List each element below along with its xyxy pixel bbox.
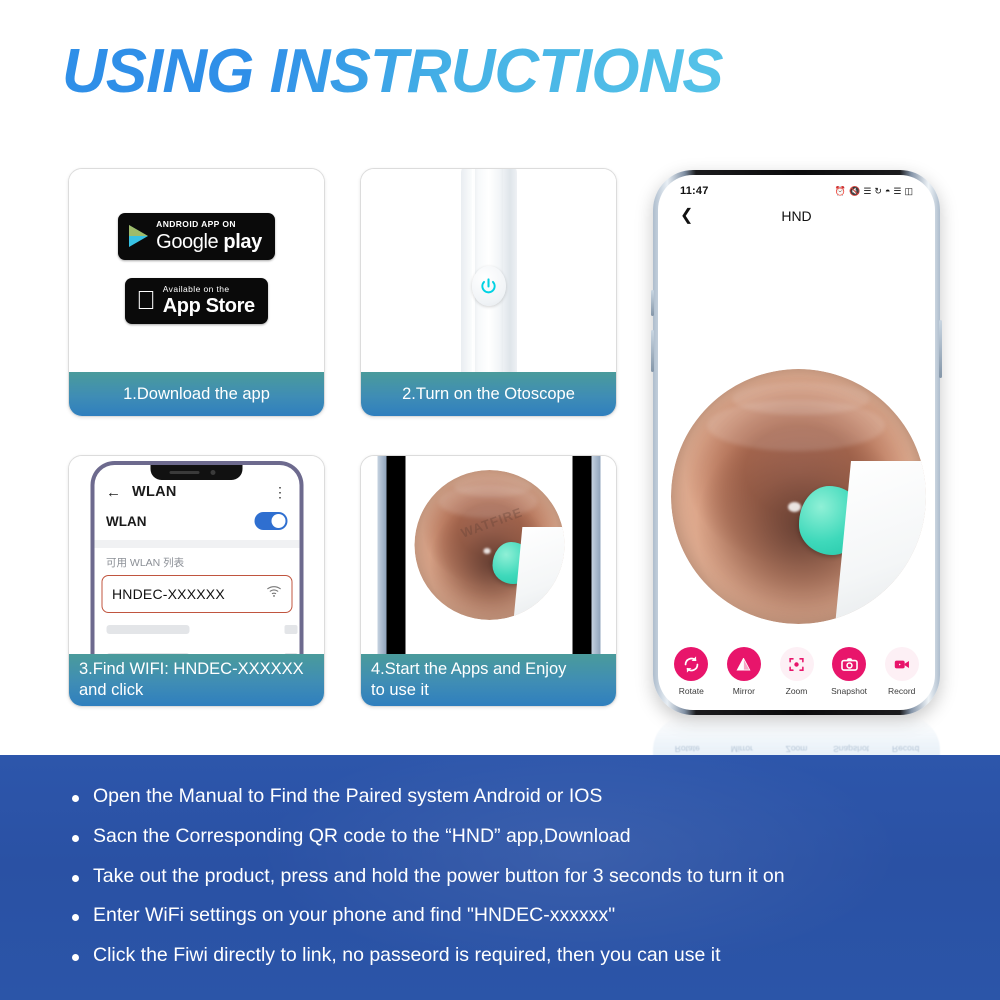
app-phone-mockup: 11:47 ⏰ 🔇 ☰ ↻ ◓ ☰ ◫ ❮ HND [653, 170, 940, 715]
step-1-caption-text: 1.Download the app [123, 384, 270, 405]
note-item: Take out the product, press and hold the… [72, 865, 1000, 889]
note-text: Take out the product, press and hold the… [93, 865, 785, 889]
google-play-badge-big: Google [156, 231, 223, 253]
zoom-button[interactable] [780, 647, 814, 681]
reflection-label-snapshot: Snapshot [829, 744, 874, 754]
step-card-start-apps: WATFIRE 4.Start the Apps and Enjoy to us… [360, 455, 617, 707]
app-store-badge-bold: Store [206, 295, 255, 317]
google-play-badge-bold: play [223, 231, 261, 253]
battery-icon: ◫ [904, 187, 913, 196]
app-store-badge-small: Available on the [163, 285, 255, 294]
step-3-caption-line1: 3.Find WIFI: HNDEC-XXXXXX [79, 659, 304, 680]
note-item: Click the Fiwi directly to link, no pass… [72, 944, 1000, 968]
note-item: Sacn the Corresponding QR code to the “H… [72, 825, 1000, 849]
bullet-icon [72, 835, 79, 842]
store-badges: ANDROID APP ON Google play  Available o… [69, 213, 324, 324]
alarm-icon: ⏰ [835, 187, 846, 196]
step-4-caption-line2: to use it [371, 680, 429, 701]
app-store-badge[interactable]:  Available on the App Store [125, 278, 267, 325]
rotate-label: Rotate [679, 686, 704, 696]
google-play-icon [129, 225, 149, 247]
step-2-body: 2.Turn on the Otoscope [361, 169, 616, 416]
power-button[interactable] [472, 266, 506, 306]
step-4-body: WATFIRE 4.Start the Apps and Enjoy to us… [361, 456, 616, 706]
step-3-body: ← WLAN ⋮ WLAN 可用 WLAN 列表 HNDEC-XXXXXX [69, 456, 324, 706]
wifi-icon [266, 585, 281, 603]
step-1-caption: 1.Download the app [69, 372, 324, 416]
toolbar-item-rotate[interactable]: Rotate [670, 647, 713, 696]
back-arrow-icon[interactable]: ← [106, 485, 121, 500]
status-bar-icons: ⏰ 🔇 ☰ ↻ ◓ ☰ ◫ [835, 187, 913, 196]
bullet-icon [72, 875, 79, 882]
video-icon [893, 656, 910, 673]
record-label: Record [888, 686, 915, 696]
step-4-caption: 4.Start the Apps and Enjoy to use it [361, 654, 616, 706]
step-card-download-app: ANDROID APP ON Google play  Available o… [68, 168, 325, 417]
zoom-label: Zoom [786, 686, 808, 696]
note-text: Click the Fiwi directly to link, no pass… [93, 944, 721, 968]
mirror-button[interactable] [727, 647, 761, 681]
wifi-icon: ◓ [885, 187, 890, 196]
note-text: Sacn the Corresponding QR code to the “H… [93, 825, 631, 849]
apple-icon:  [136, 289, 156, 311]
bluetooth-icon: ☰ [863, 187, 871, 196]
page-title: USING INSTRUCTIONS [62, 36, 723, 107]
mute-icon: 🔇 [849, 187, 860, 196]
snapshot-label: Snapshot [831, 686, 867, 696]
bullet-icon [72, 795, 79, 802]
google-play-badge[interactable]: ANDROID APP ON Google play [118, 213, 275, 260]
app-bar: ❮ HND [658, 197, 935, 229]
app-screen: 11:47 ⏰ 🔇 ☰ ↻ ◓ ☰ ◫ ❮ HND [658, 175, 935, 710]
wlan-section-header: 可用 WLAN 列表 [94, 548, 299, 575]
instructions-page: USING INSTRUCTIONS ANDROID APP ON Google… [0, 0, 1000, 1000]
camera-toolbar: Rotate Mirror [658, 647, 935, 696]
app-title: HND [658, 208, 935, 224]
sync-icon: ↻ [874, 187, 882, 196]
more-vertical-icon[interactable]: ⋮ [273, 485, 287, 499]
phone-button-volume-down[interactable] [651, 330, 654, 372]
rotate-button[interactable] [674, 647, 708, 681]
step-2-caption-text: 2.Turn on the Otoscope [402, 384, 575, 405]
step-3-caption-line2: and click [79, 680, 143, 701]
phone-notch [151, 465, 243, 480]
wifi-network-item-hndec[interactable]: HNDEC-XXXXXX [101, 575, 292, 613]
record-button[interactable] [885, 647, 919, 681]
phone-button-power[interactable] [939, 320, 942, 378]
step-card-turn-on-otoscope: 2.Turn on the Otoscope [360, 168, 617, 417]
reflection-label-zoom: Zoom [774, 744, 819, 754]
status-bar-time: 11:47 [680, 185, 709, 197]
step-1-body: ANDROID APP ON Google play  Available o… [69, 169, 324, 416]
wlan-toggle-row[interactable]: WLAN [94, 508, 299, 540]
instructions-notes-band: Open the Manual to Find the Paired syste… [0, 755, 1000, 1000]
camera-viewport[interactable] [658, 241, 935, 606]
phone-reflection: Rotate Mirror Zoom Snapshot Record [653, 716, 940, 760]
bullet-icon [72, 954, 79, 961]
step-card-find-wifi: ← WLAN ⋮ WLAN 可用 WLAN 列表 HNDEC-XXXXXX [68, 455, 325, 707]
snapshot-button[interactable] [832, 647, 866, 681]
toolbar-item-mirror[interactable]: Mirror [723, 647, 766, 696]
power-icon [479, 277, 498, 296]
rotate-icon [682, 655, 701, 674]
bullet-icon [72, 914, 79, 921]
wlan-toggle[interactable] [254, 512, 287, 530]
zoom-focus-icon [788, 656, 805, 673]
camera-icon [840, 655, 859, 674]
live-ear-image [671, 369, 926, 624]
ear-image: WATFIRE [414, 470, 564, 620]
wifi-network-ssid: HNDEC-XXXXXX [112, 586, 225, 602]
wlan-toggle-label: WLAN [106, 514, 147, 529]
section-divider [94, 540, 299, 548]
mirror-icon [734, 655, 753, 674]
reflection-label-rotate: Rotate [665, 744, 710, 754]
step-4-caption-line1: 4.Start the Apps and Enjoy [371, 659, 566, 680]
wlan-screen-title: WLAN [132, 484, 177, 500]
phone-button-volume-up[interactable] [651, 290, 654, 316]
note-item: Enter WiFi settings on your phone and fi… [72, 904, 1000, 928]
note-text: Open the Manual to Find the Paired syste… [93, 785, 602, 809]
mirror-label: Mirror [733, 686, 755, 696]
reflection-label-mirror: Mirror [720, 744, 765, 754]
note-text: Enter WiFi settings on your phone and fi… [93, 904, 615, 928]
notes-list: Open the Manual to Find the Paired syste… [0, 755, 1000, 968]
toolbar-item-record[interactable]: Record [880, 647, 923, 696]
step-3-caption: 3.Find WIFI: HNDEC-XXXXXX and click [69, 654, 324, 706]
toolbar-item-snapshot[interactable]: Snapshot [828, 647, 871, 696]
reflection-label-record: Record [883, 744, 928, 754]
signal-icon: ☰ [893, 187, 901, 196]
status-bar: 11:47 ⏰ 🔇 ☰ ↻ ◓ ☰ ◫ [658, 175, 935, 197]
toolbar-item-zoom[interactable]: Zoom [775, 647, 818, 696]
step-2-caption: 2.Turn on the Otoscope [361, 372, 616, 416]
app-store-badge-big: App [163, 295, 206, 317]
note-item: Open the Manual to Find the Paired syste… [72, 785, 1000, 809]
google-play-badge-small: ANDROID APP ON [156, 220, 262, 229]
